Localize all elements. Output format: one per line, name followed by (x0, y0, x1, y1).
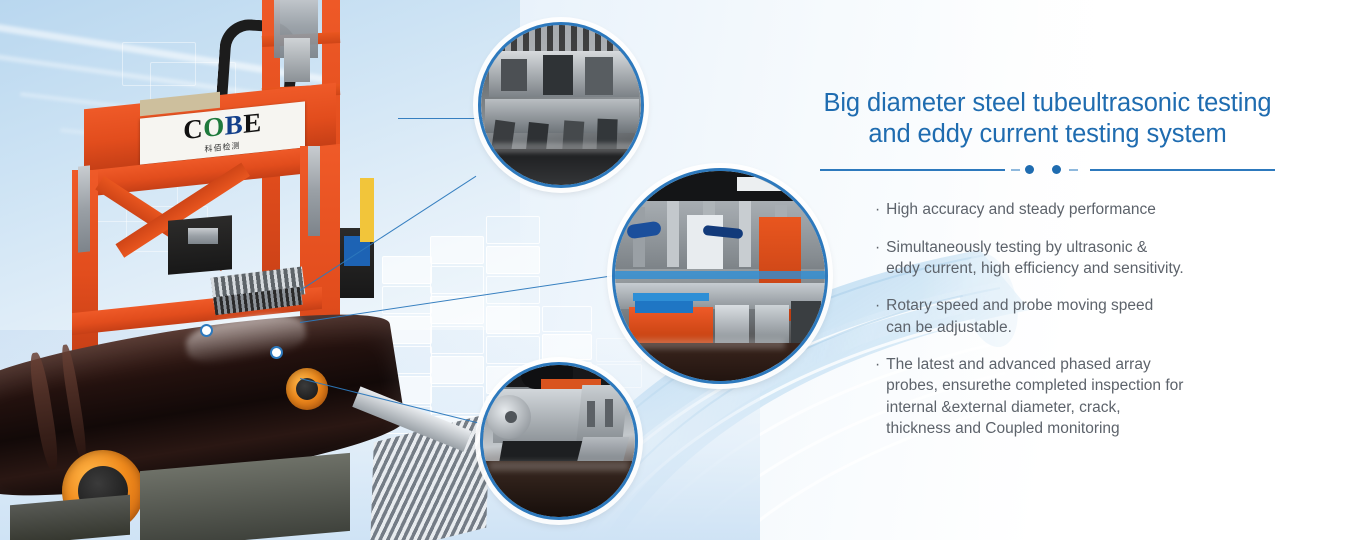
logo-letter-c: C (183, 113, 203, 145)
list-item: · The latest and advanced phased array p… (875, 354, 1335, 440)
callout-node (272, 348, 281, 357)
logo-letter-e: E (243, 107, 262, 139)
linear-guide-rail (78, 165, 90, 252)
feature-text: The latest and advanced phased array pro… (886, 354, 1183, 440)
logo-letter-b: B (225, 109, 244, 141)
inset-photo-probe-shoe (483, 365, 635, 517)
logo-subtitle: 科佰检测 (205, 140, 241, 155)
product-banner: COBE 科佰检测 (0, 0, 1350, 540)
divider-tick-left (1011, 169, 1020, 171)
bullet-marker-icon: · (875, 295, 880, 338)
feature-text: Simultaneously testing by ultrasonic & e… (886, 237, 1184, 280)
logo-letter-o: O (203, 111, 225, 143)
probe-carriage (168, 215, 232, 275)
list-item: · High accuracy and steady performance (875, 199, 1335, 220)
feature-text: Rotary speed and probe moving speed can … (886, 295, 1153, 338)
divider-line-left (820, 169, 1005, 171)
feature-list: · High accuracy and steady performance ·… (760, 199, 1335, 439)
list-item: · Rotary speed and probe moving speed ca… (875, 295, 1335, 338)
inset-circle-bottom[interactable] (480, 362, 638, 520)
list-item: · Simultaneously testing by ultrasonic &… (875, 237, 1335, 280)
yellow-guard (360, 178, 374, 242)
linear-guide-rail (308, 146, 320, 236)
bullet-marker-icon: · (875, 237, 880, 280)
title-divider (820, 163, 1275, 177)
bullet-marker-icon: · (875, 199, 880, 220)
divider-dot-2 (1052, 165, 1061, 174)
carriage-plate (188, 228, 218, 244)
divider-dot-1 (1025, 165, 1034, 174)
divider-tick-right (1069, 169, 1078, 171)
banner-title: Big diameter steel tubeultrasonic testin… (760, 88, 1335, 149)
inset-circle-top[interactable] (478, 22, 644, 188)
content-panel: Big diameter steel tubeultrasonic testin… (760, 88, 1335, 456)
mast-actuator (284, 38, 310, 82)
callout-node (202, 326, 211, 335)
bullet-marker-icon: · (875, 354, 880, 440)
feature-text: High accuracy and steady performance (886, 199, 1156, 220)
roller-stand (10, 495, 130, 540)
inset-photo-probe-array (481, 25, 641, 185)
divider-line-right (1090, 169, 1275, 171)
logo-wordmark: COBE (183, 109, 262, 144)
testing-machine-photo: COBE 科佰检测 (0, 0, 470, 540)
